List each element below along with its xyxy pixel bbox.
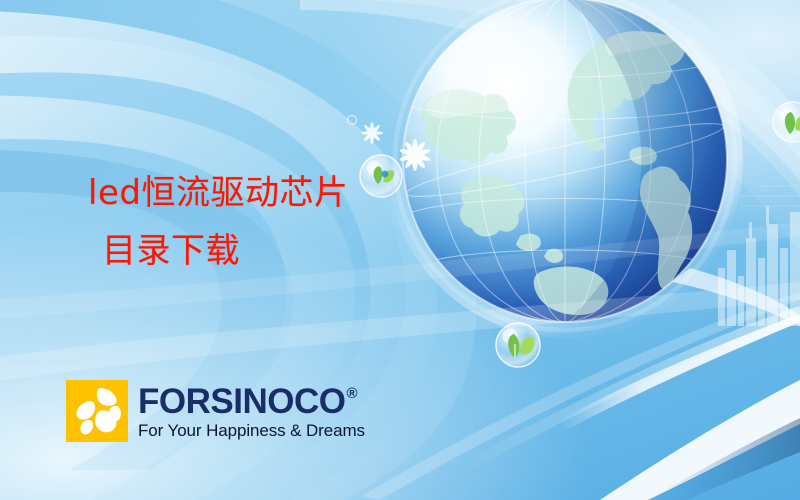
logo-tagline: For Your Happiness & Dreams xyxy=(138,422,365,439)
company-logo[interactable]: FORSINOCO ® For Your Happiness & Dreams xyxy=(66,380,365,442)
logo-mark-icon xyxy=(66,380,128,442)
logo-wordmark-label: FORSINOCO xyxy=(138,384,345,419)
logo-text-block: FORSINOCO ® For Your Happiness & Dreams xyxy=(138,384,365,439)
sparkle-icon-small xyxy=(361,122,383,144)
headline-text: led恒流驱动芯片 目录下载 xyxy=(88,164,348,280)
flower-petals-icon xyxy=(66,380,128,442)
headline-line-1: led恒流驱动芯片 xyxy=(88,173,348,213)
headline-line-2: 目录下载 xyxy=(88,222,348,280)
banner-canvas: led恒流驱动芯片 目录下载 FORSINOCO ® For Your Happ… xyxy=(0,0,800,500)
eco-bubble-2 xyxy=(496,323,540,367)
eco-bubble-1 xyxy=(360,155,402,197)
logo-wordmark: FORSINOCO ® xyxy=(138,384,365,419)
registered-trademark-icon: ® xyxy=(346,386,357,401)
